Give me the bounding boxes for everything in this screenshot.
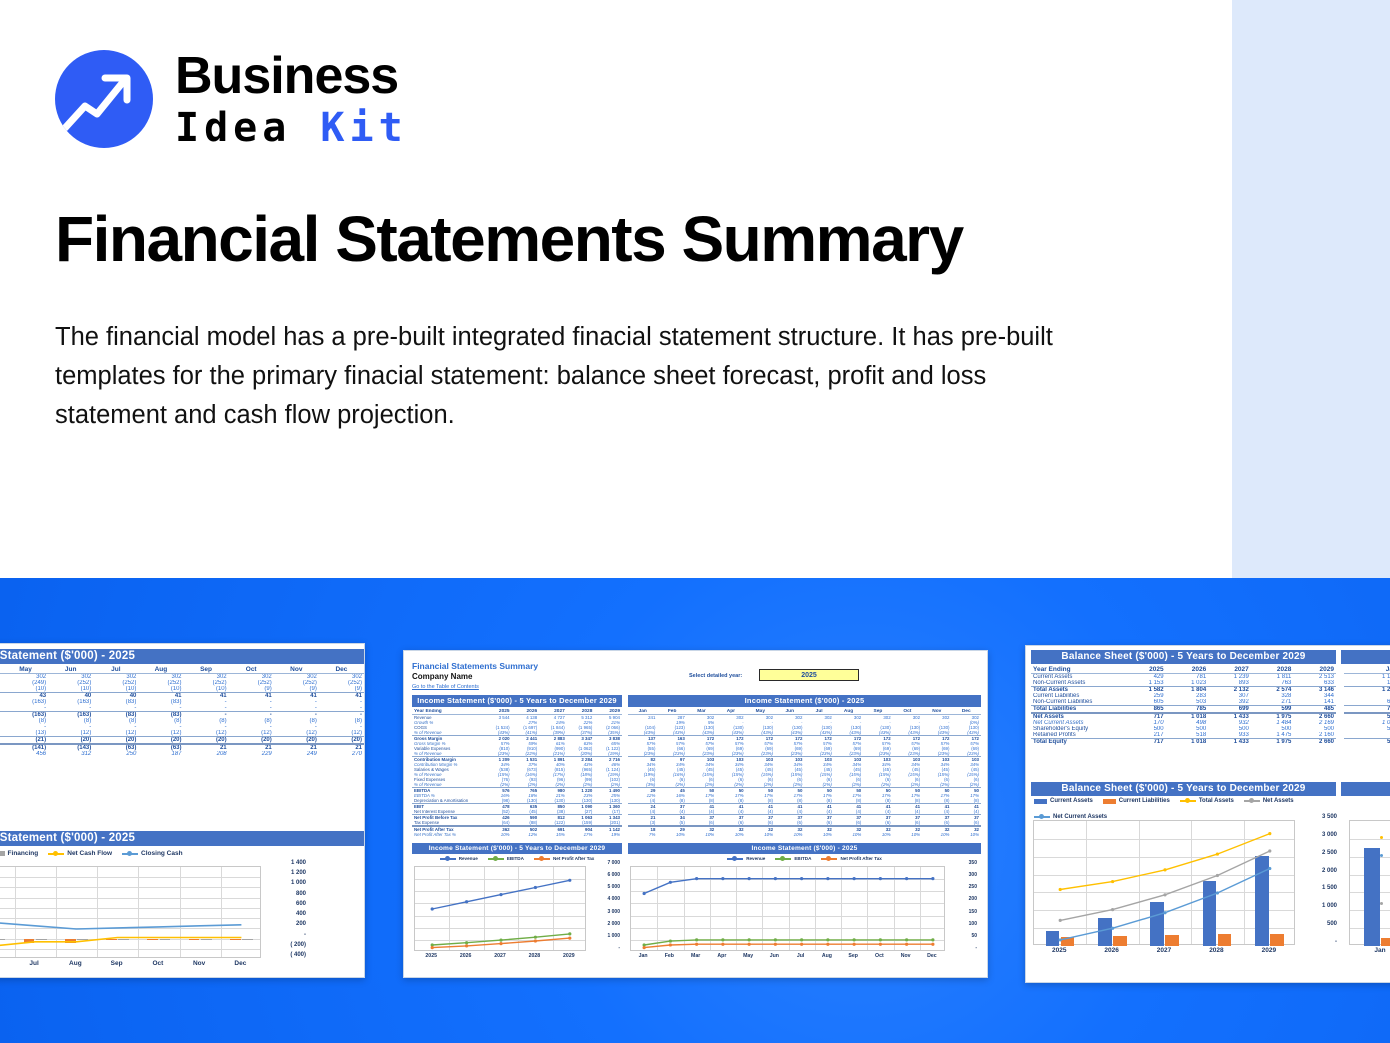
axis-tick: Oct xyxy=(866,953,892,959)
table-cell: 10% xyxy=(951,832,981,837)
balance-sheet-chart: 3 5003 0002 5002 0001 5001 000500- 20252… xyxy=(1031,818,1390,978)
axis-tick: 2 000 xyxy=(607,921,620,927)
table-cell: 512 xyxy=(1344,739,1390,746)
legend-label: Revenue xyxy=(746,856,765,861)
table-cell: (20) xyxy=(319,737,364,745)
axis-tick: 2025 xyxy=(1033,947,1085,954)
axis-tick: Sep xyxy=(96,960,137,967)
page-description: The financial model has a pre-built inte… xyxy=(55,318,1085,434)
legend-swatch xyxy=(440,858,456,860)
table-cell: 7% xyxy=(628,832,657,837)
axis-tick: Jun xyxy=(761,953,787,959)
balance-sheet-chart-legend: Current AssetsCurrent LiabilitiesTotal A… xyxy=(1034,798,1334,820)
table-cell: 12% xyxy=(512,832,540,837)
legend-item: Revenue xyxy=(440,856,478,861)
table-cell: 17% xyxy=(567,832,595,837)
legend-item: Net Profit After Tax xyxy=(534,856,594,861)
table-cell: 1 975 xyxy=(1251,713,1294,720)
axis-tick: - xyxy=(618,945,620,951)
axis-tick: 600 xyxy=(296,901,306,907)
table-cell: 786 xyxy=(1344,706,1390,714)
table-cell: 717 xyxy=(1123,713,1166,720)
legend-label: Financing xyxy=(8,850,39,857)
axis-tick: 5 000 xyxy=(607,884,620,890)
axis-tick: 3 500 xyxy=(1322,814,1337,820)
legend-item: Current Liabilities xyxy=(1103,798,1170,804)
page-title: Financial Statements Summary xyxy=(55,202,963,276)
table-cell: 229 xyxy=(229,751,274,757)
legend-swatch xyxy=(0,851,5,856)
col-header: Jun xyxy=(48,666,93,674)
legend-item: EBITDA xyxy=(488,856,524,861)
balance-sheet-chart-title-cont xyxy=(1341,782,1390,796)
axis-tick: 2 500 xyxy=(1322,850,1337,856)
axis-tick: Jan xyxy=(630,953,656,959)
table-cell: (20) xyxy=(184,737,229,745)
axis-tick: Jan xyxy=(1349,947,1390,954)
year-select-label: Select detailed year: xyxy=(689,673,742,679)
summary-monthly-chart-title: Income Statement ($'000) - 2025 xyxy=(628,843,981,854)
axis-tick: 4 000 xyxy=(607,896,620,902)
axis-tick: Aug xyxy=(814,953,840,959)
brand-kit-text: Kit xyxy=(320,105,407,151)
axis-tick: 2028 xyxy=(1190,947,1242,954)
table-row: (141)(143)(63)(63)21212121 xyxy=(0,744,364,751)
col-header: 2025 xyxy=(1123,666,1166,674)
table-cell: 512 xyxy=(1344,713,1390,720)
col-header: 2029 xyxy=(1293,666,1336,674)
axis-tick: 7 000 xyxy=(607,860,620,866)
table-row: Total Liabilities865785699599485 xyxy=(1031,706,1336,714)
table-row: 456312250187208229249270 xyxy=(0,751,364,757)
col-header: Dec xyxy=(319,666,364,674)
axis-tick: 2025 xyxy=(414,953,448,959)
summary-heading: Financial Statements Summary xyxy=(412,661,538,671)
legend-swatch xyxy=(821,858,837,860)
table-cell: 1 975 xyxy=(1251,739,1294,746)
axis-tick: Oct xyxy=(137,960,178,967)
table-cell: 270 xyxy=(319,751,364,757)
axis-tick: 150 xyxy=(969,909,977,915)
axis-tick: 500 xyxy=(1327,921,1337,927)
hero-section: Business Idea Kit Financial Statements S… xyxy=(0,0,1390,578)
col-header: Nov xyxy=(274,666,319,674)
legend-item: Net Assets xyxy=(1244,798,1294,804)
table-cell: 250 xyxy=(93,751,138,757)
table-cell: 10% xyxy=(687,832,716,837)
slide-page: Business Idea Kit Financial Statements S… xyxy=(0,0,1390,1043)
row-header: Year Ending xyxy=(1031,666,1123,674)
legend-item: Closing Cash xyxy=(122,850,183,857)
axis-tick: - xyxy=(1335,939,1337,945)
summary-yearly-table: Year Ending 2025 2026 2027 2028 2029 Rev… xyxy=(412,709,622,837)
table-cell: 21 xyxy=(319,744,364,751)
table-cell: 865 xyxy=(1123,706,1166,714)
col-header: May xyxy=(3,666,48,674)
hero-accent-panel xyxy=(1232,0,1390,578)
table-cell: 10% xyxy=(922,832,951,837)
chart-bar xyxy=(1381,938,1390,946)
col-header: 2027 xyxy=(1208,666,1251,674)
table-cell: (20) xyxy=(138,737,183,745)
col-header: Jan xyxy=(1344,666,1390,674)
axis-tick: 3 000 xyxy=(1322,832,1337,838)
table-cell: 10% xyxy=(863,832,892,837)
axis-tick: 100 xyxy=(969,921,977,927)
axis-tick: 2029 xyxy=(1243,947,1295,954)
summary-monthly-table: JanFebMarAprMayJunJulAugSepOctNovDec 241… xyxy=(628,709,981,837)
axis-tick: Aug xyxy=(55,960,96,967)
table-cell: (20) xyxy=(93,737,138,745)
table-cell: 10% xyxy=(484,832,512,837)
axis-tick: 250 xyxy=(969,884,977,890)
legend-label: Closing Cash xyxy=(141,850,183,857)
axis-tick: 50 xyxy=(971,933,977,939)
axis-tick: - xyxy=(304,932,306,938)
table-cell: (63) xyxy=(138,744,183,751)
legend-item: Total Assets xyxy=(1180,798,1234,804)
legend-item: Current Assets xyxy=(1034,798,1093,804)
table-row: (21)(20)(20)(20)(20)(20)(20)(20) xyxy=(0,737,364,745)
table-cell: (63) xyxy=(93,744,138,751)
brand-idea-text: Idea xyxy=(175,105,291,151)
legend-swatch xyxy=(775,858,791,860)
axis-tick: 1 000 xyxy=(1322,903,1337,909)
legend-swatch xyxy=(1180,800,1196,802)
screenshot-balance-sheet[interactable]: Balance Sheet ($'000) - 5 Years to Decem… xyxy=(1025,645,1390,983)
col-header: Jul xyxy=(93,666,138,674)
axis-tick: - xyxy=(975,945,977,951)
axis-tick: 400 xyxy=(296,911,306,917)
axis-tick: Dec xyxy=(919,953,945,959)
chart-bar xyxy=(1364,848,1380,946)
legend-swatch xyxy=(1244,800,1260,802)
table-row: 7%10%10%10%10%10%10%10%10%10%10%10% xyxy=(628,832,981,837)
table-cell: 208 xyxy=(184,751,229,757)
table-row: 786 xyxy=(1344,706,1390,714)
axis-tick: Mar xyxy=(683,953,709,959)
screenshot-summary[interactable]: Financial Statements Summary Company Nam… xyxy=(403,650,988,978)
axis-tick: 1 000 xyxy=(607,933,620,939)
table-cell: 21 xyxy=(229,744,274,751)
summary-yearly-chart-title: Income Statement ($'000) - 5 Years to De… xyxy=(412,843,622,854)
legend-swatch xyxy=(727,858,743,860)
table-cell: 485 xyxy=(1293,706,1336,714)
balance-sheet-jan-column: Jan 1 1741241 297936927865121 0815001251… xyxy=(1344,666,1390,745)
legend-label: EBITDA xyxy=(507,856,524,861)
axis-tick: Nov xyxy=(179,960,220,967)
balance-sheet-chart-title: Balance Sheet ($'000) - 5 Years to Decem… xyxy=(1031,782,1336,796)
brand-name-line2: Idea Kit xyxy=(175,108,408,148)
table-of-contents-link[interactable]: Go to the Table of Contents xyxy=(412,684,479,690)
table-cell: (21) xyxy=(3,737,48,745)
axis-tick: 2 000 xyxy=(1322,868,1337,874)
table-row: 512 xyxy=(1344,739,1390,746)
chart-marker xyxy=(1380,902,1383,905)
axis-tick: 6 000 xyxy=(607,872,620,878)
axis-tick: Apr xyxy=(709,953,735,959)
table-cell: (143) xyxy=(48,744,93,751)
table-cell: (141) xyxy=(3,744,48,751)
legend-swatch xyxy=(534,858,550,860)
table-cell: 21 xyxy=(274,744,319,751)
axis-tick: 1 000 xyxy=(291,880,306,886)
table-cell: 1 433 xyxy=(1208,739,1251,746)
axis-tick: 200 xyxy=(296,921,306,927)
legend-label: EBITDA xyxy=(794,856,811,861)
axis-tick: 2026 xyxy=(1085,947,1137,954)
summary-yearly-table-title: Income Statement ($'000) - 5 Years to De… xyxy=(412,695,622,707)
legend-label: Net Cash Flow xyxy=(67,850,112,857)
legend-label: Net Assets xyxy=(1263,798,1294,804)
table-cell: 21 xyxy=(184,744,229,751)
legend-swatch xyxy=(48,853,64,855)
table-cell: 10% xyxy=(775,832,804,837)
legend-item: EBITDA xyxy=(775,856,811,861)
axis-tick: 2027 xyxy=(483,953,517,959)
col-header: Aug xyxy=(138,666,183,674)
table-row: Net Assets7171 0181 4331 9752 660 xyxy=(1031,713,1336,720)
col-header: 2026 xyxy=(1166,666,1209,674)
axis-tick: 3 000 xyxy=(607,909,620,915)
legend-item: Revenue xyxy=(727,856,765,861)
table-cell: 10% xyxy=(746,832,775,837)
axis-tick: 1 400 xyxy=(291,860,306,866)
axis-tick: Jul xyxy=(14,960,55,967)
table-row: Total Equity7171 0181 4331 9752 660 xyxy=(1031,739,1336,746)
table-cell: 785 xyxy=(1166,706,1209,714)
table-cell: 187 xyxy=(138,751,183,757)
table-cell: 10% xyxy=(804,832,833,837)
cash-flow-chart-title: Cash Flow Statement ($'000) - 2025 xyxy=(0,831,364,846)
table-cell: 312 xyxy=(48,751,93,757)
axis-tick: Feb xyxy=(656,953,682,959)
table-cell: 249 xyxy=(274,751,319,757)
row-label: Total Equity xyxy=(1031,739,1123,746)
table-cell: 717 xyxy=(1123,739,1166,746)
legend-swatch xyxy=(488,858,504,860)
table-cell: (20) xyxy=(229,737,274,745)
table-cell: (20) xyxy=(274,737,319,745)
table-cell: 10% xyxy=(716,832,745,837)
axis-tick: May xyxy=(735,953,761,959)
legend-label: Net Profit After Tax xyxy=(553,856,594,861)
table-cell: 2 660 xyxy=(1293,713,1336,720)
table-cell: 19% xyxy=(594,832,622,837)
table-cell: 599 xyxy=(1251,706,1294,714)
screenshot-cash-flow[interactable]: Cash Flow Statement ($'000) - 2025 May J… xyxy=(0,643,365,978)
axis-tick: Jun xyxy=(0,960,14,967)
table-cell: 10% xyxy=(657,832,686,837)
axis-tick: 300 xyxy=(969,872,977,878)
summary-monthly-table-title: Income Statement ($'000) - 2025 xyxy=(628,695,981,707)
axis-tick: 350 xyxy=(969,860,977,866)
axis-tick: 200 xyxy=(969,896,977,902)
axis-tick: Dec xyxy=(220,960,261,967)
col-header: Sep xyxy=(184,666,229,674)
company-name: Company Name xyxy=(412,672,472,681)
axis-tick: ( 200) xyxy=(290,942,306,948)
cash-flow-table: May Jun Jul Aug Sep Oct Nov Dec 30230230… xyxy=(0,666,364,757)
summary-monthly-chart-legend: RevenueEBITDANet Profit After Tax xyxy=(628,856,981,861)
row-label: Net Profit After Tax % xyxy=(412,832,484,837)
table-cell: (20) xyxy=(48,737,93,745)
axis-tick: Jul xyxy=(788,953,814,959)
legend-swatch xyxy=(122,853,138,855)
cash-flow-chart: 1 4001 2001 000800600400200-( 200)( 400)… xyxy=(0,864,365,976)
legend-item: Net Profit After Tax xyxy=(821,856,881,861)
table-cell: 1 018 xyxy=(1166,713,1209,720)
axis-tick: 2027 xyxy=(1138,947,1190,954)
axis-tick: ( 400) xyxy=(290,952,306,958)
balance-sheet-table: Year Ending 2025 2026 2027 2028 2029 Cur… xyxy=(1031,666,1336,745)
brand-name-line1: Business xyxy=(175,50,408,102)
table-cell: 15% xyxy=(539,832,567,837)
table-row: 512 xyxy=(1344,713,1390,720)
axis-tick: Sep xyxy=(840,953,866,959)
summary-yearly-chart: 7 0006 0005 0004 0003 0002 0001 000- 202… xyxy=(412,864,622,969)
legend-swatch xyxy=(1034,799,1047,804)
legend-label: Current Assets xyxy=(1050,798,1093,804)
balance-sheet-table-title-cont xyxy=(1341,650,1390,664)
axis-tick: 1 500 xyxy=(1322,885,1337,891)
row-label: Total Liabilities xyxy=(1031,706,1123,714)
legend-label: Total Assets xyxy=(1199,798,1234,804)
summary-monthly-chart: 35030025020015010050- JanFebMarAprMayJun… xyxy=(628,864,981,969)
summary-yearly-chart-legend: RevenueEBITDANet Profit After Tax xyxy=(412,856,622,861)
table-cell: 1 018 xyxy=(1166,739,1209,746)
cash-flow-table-title: Cash Flow Statement ($'000) - 2025 xyxy=(0,649,364,664)
axis-tick: 800 xyxy=(296,891,306,897)
table-cell: 699 xyxy=(1208,706,1251,714)
axis-tick: 1 200 xyxy=(291,870,306,876)
legend-item: Financing xyxy=(0,850,38,857)
balance-sheet-table-title: Balance Sheet ($'000) - 5 Years to Decem… xyxy=(1031,650,1336,664)
legend-swatch xyxy=(1103,799,1116,804)
axis-tick: 2028 xyxy=(517,953,551,959)
axis-tick: 2026 xyxy=(448,953,482,959)
table-cell: 1 433 xyxy=(1208,713,1251,720)
axis-tick: 2029 xyxy=(552,953,586,959)
table-cell: 10% xyxy=(834,832,863,837)
brand-business-text: Business xyxy=(175,47,398,105)
table-cell: 10% xyxy=(893,832,922,837)
year-select-dropdown[interactable]: 2025 xyxy=(759,669,859,681)
row-label: Net Assets xyxy=(1031,713,1123,720)
col-header: 2028 xyxy=(1251,666,1294,674)
col-header: Oct xyxy=(229,666,274,674)
axis-tick: Nov xyxy=(893,953,919,959)
cash-flow-chart-legend: InvestingFinancingNet Cash FlowClosing C… xyxy=(0,850,267,857)
growth-arrow-icon xyxy=(55,50,153,148)
table-row: Net Profit After Tax %10%12%15%17%19% xyxy=(412,832,622,837)
brand-logo: Business Idea Kit xyxy=(55,50,408,148)
legend-label: Revenue xyxy=(459,856,478,861)
table-cell: 2 660 xyxy=(1293,739,1336,746)
legend-item: Net Cash Flow xyxy=(48,850,112,857)
legend-label: Net Profit After Tax xyxy=(840,856,881,861)
legend-label: Current Liabilities xyxy=(1119,798,1170,804)
table-cell: 456 xyxy=(3,751,48,757)
